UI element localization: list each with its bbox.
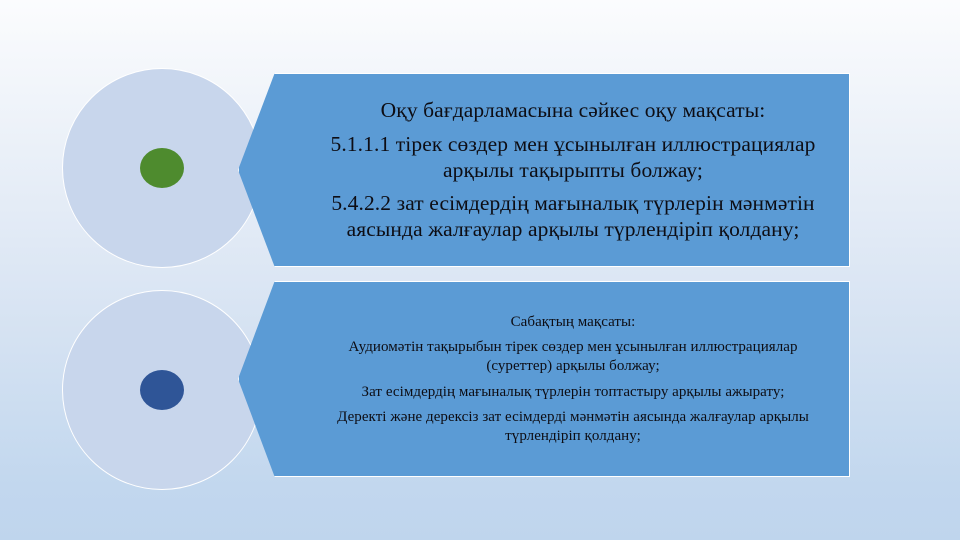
- banner-lesson-objectives: Сабақтың мақсаты: Аудиомәтін тақырыбын т…: [238, 281, 850, 477]
- slide-canvas: Оқу бағдарламасына сәйкес оқу мақсаты: 5…: [0, 0, 960, 540]
- lesson-objectives-heading: Сабақтың мақсаты:: [315, 313, 831, 332]
- lesson-objective-item: Зат есімдердің мағыналық түрлерін топтас…: [315, 383, 831, 402]
- learning-objective-item: 5.1.1.1 тірек сөздер мен ұсынылған иллюс…: [315, 131, 831, 183]
- bullet-marker-blue: [62, 290, 262, 490]
- blue-marker-dot: [140, 370, 184, 410]
- lesson-objective-item: Аудиомәтін тақырыбын тірек сөздер мен ұс…: [315, 338, 831, 375]
- learning-objective-item: 5.4.2.2 зат есімдердің мағыналық түрлері…: [315, 190, 831, 242]
- banner-text-block: Оқу бағдарламасына сәйкес оқу мақсаты: 5…: [239, 97, 849, 242]
- green-marker-dot: [140, 148, 184, 188]
- bullet-marker-green: [62, 68, 262, 268]
- learning-objectives-heading: Оқу бағдарламасына сәйкес оқу мақсаты:: [315, 97, 831, 123]
- banner-learning-objectives: Оқу бағдарламасына сәйкес оқу мақсаты: 5…: [238, 73, 850, 267]
- banner-text-block: Сабақтың мақсаты: Аудиомәтін тақырыбын т…: [239, 313, 849, 446]
- lesson-objective-item: Деректі және дерексіз зат есімдерді мәнм…: [315, 408, 831, 445]
